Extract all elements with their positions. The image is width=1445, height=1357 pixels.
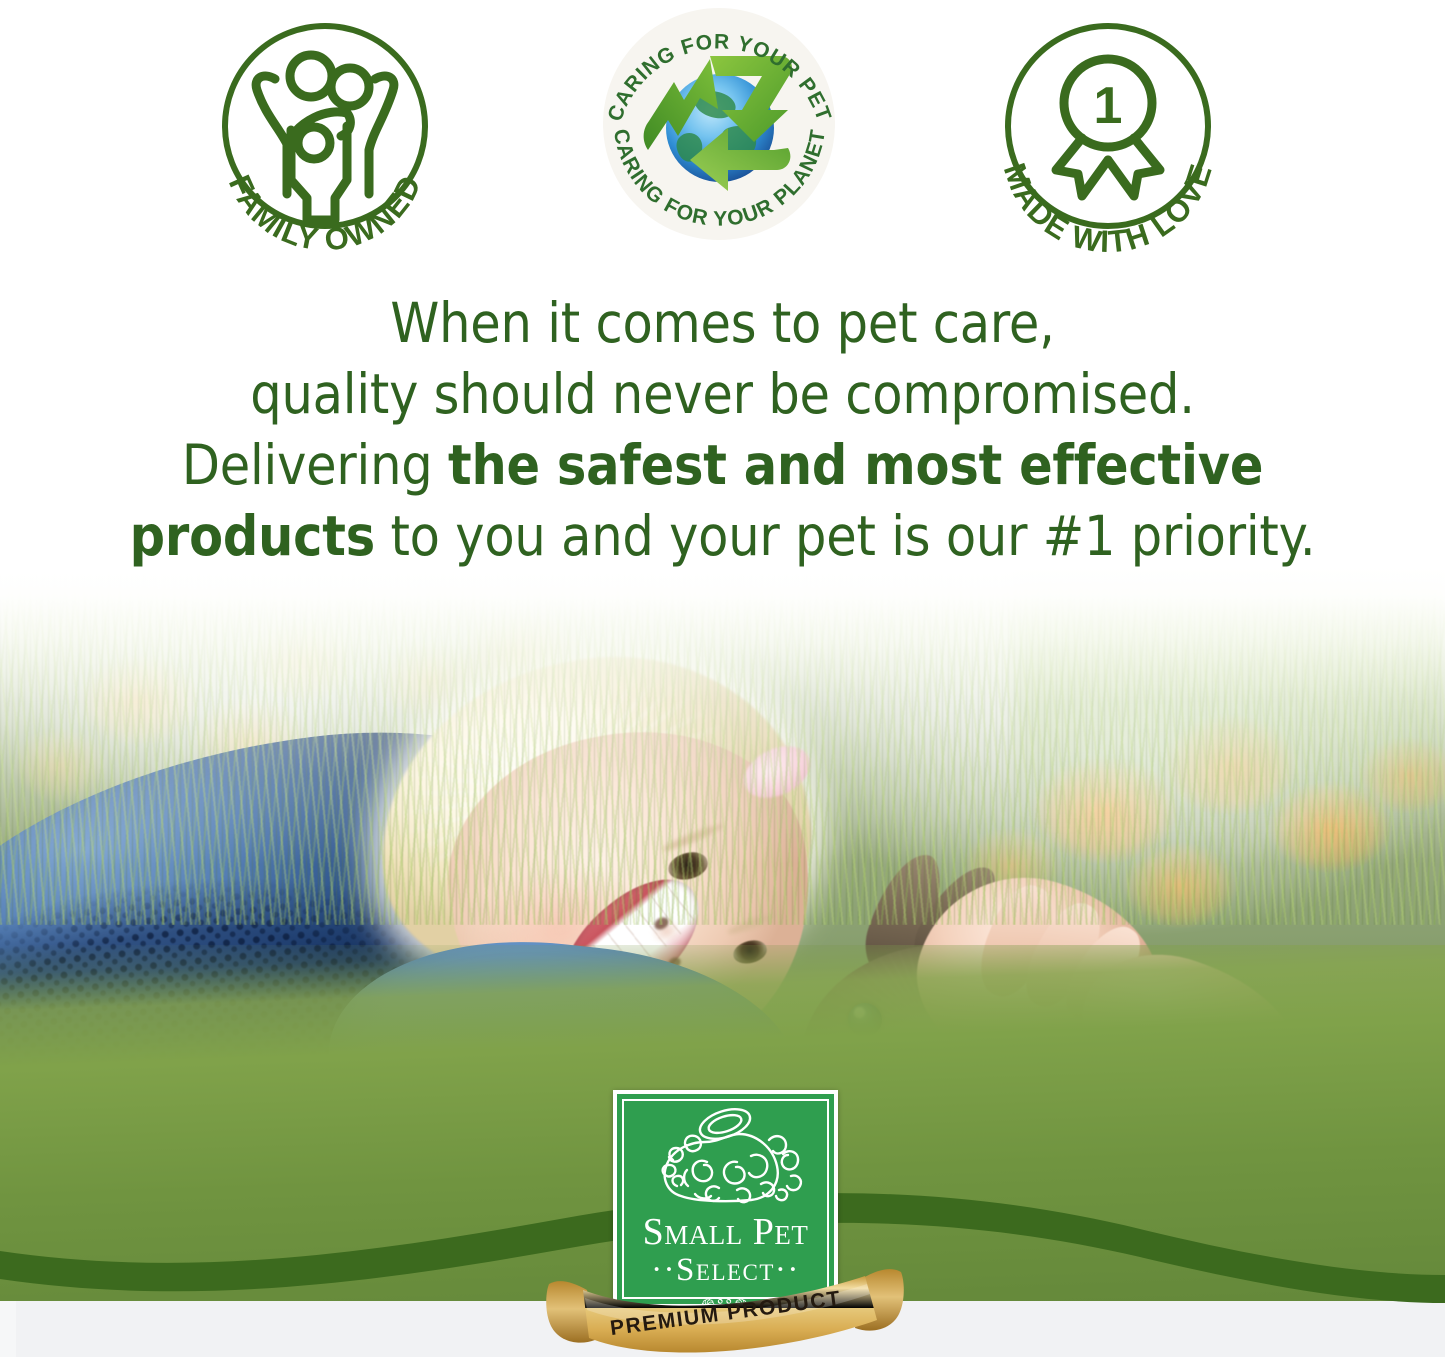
headline-line-4-suffix: to you and your pet is our #1 priority. [375,504,1315,568]
headline-line-1: When it comes to pet care, [0,288,1445,359]
headline-line-2: quality should never be compromised. [0,359,1445,430]
trust-badge-row: FAMILY OWNED FAMILY OWNED [0,0,1445,265]
award-number: 1 [1094,77,1123,135]
premium-product-ribbon: PREMIUM PRODUCT [543,1268,907,1354]
headline-line-3: Delivering the safest and most effective [0,430,1445,501]
badge-made-with-love: 1 MADE WITH LOVE MADE WITH LOVE 1 [978,8,1238,258]
badge-caring-recycle: CARING FOR YOUR PET CARING FOR YOUR PLAN… [592,2,847,247]
headline-line-4: products to you and your pet is our #1 p… [0,501,1445,572]
brand-banner: FAMILY OWNED FAMILY OWNED [0,0,1445,1357]
swirl-rabbit-icon [633,1100,819,1212]
family-owned-label: FAMILY OWNED [222,169,429,257]
headline-line-4-bold: products [130,504,375,568]
made-with-love-label: MADE WITH LOVE [997,159,1219,258]
headline-line-3-prefix: Delivering [182,433,448,497]
headline-line-3-bold: the safest and most effective [448,433,1263,497]
badge-family-owned: FAMILY OWNED FAMILY OWNED [195,8,455,258]
headline-block: When it comes to pet care, quality shoul… [0,288,1445,572]
photo-top-fade [0,565,1445,865]
family-icon [256,55,394,220]
logo-name-line-1: Small Pet [613,1212,838,1252]
